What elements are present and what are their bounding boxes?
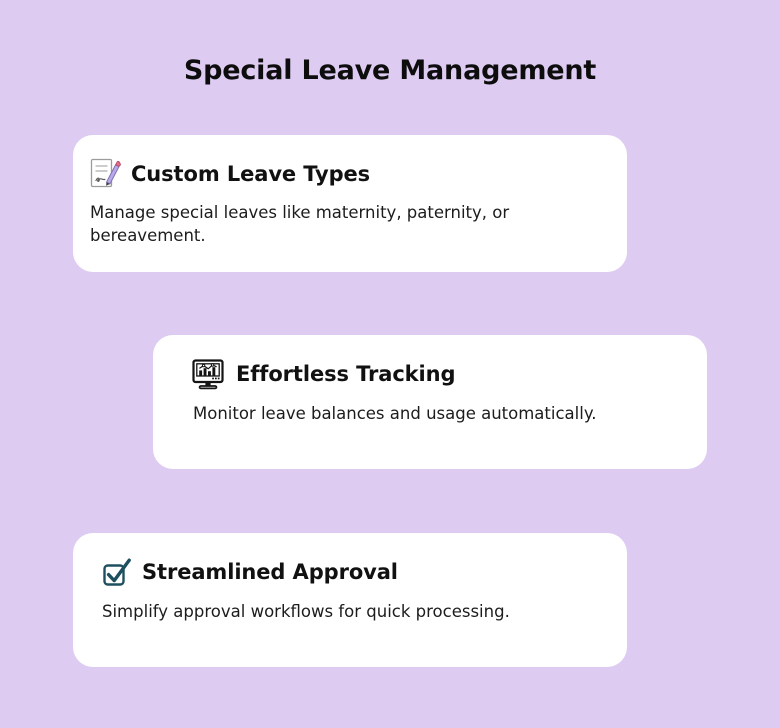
card-body-text: Simplify approval workflows for quick pr… <box>102 601 592 624</box>
card-header: Custom Leave Types <box>88 157 599 191</box>
page-title: Special Leave Management <box>0 55 780 87</box>
card-title: Custom Leave Types <box>131 162 370 186</box>
memo-icon <box>88 157 122 191</box>
slide-root: Special Leave Management Custom Leave Ty… <box>0 0 780 728</box>
card-title: Effortless Tracking <box>236 362 455 386</box>
card-header: Effortless Tracking <box>191 357 679 391</box>
card-header: Streamlined Approval <box>100 555 599 589</box>
analytics-monitor-icon <box>191 357 225 391</box>
card-body-text: Monitor leave balances and usage automat… <box>193 403 679 426</box>
checked-ballot-box-icon <box>100 555 134 589</box>
card-body-text: Manage special leaves like maternity, pa… <box>90 202 580 248</box>
feature-card-streamlined-approval: Streamlined Approval Simplify approval w… <box>73 533 627 667</box>
feature-card-custom-leave-types: Custom Leave Types Manage special leaves… <box>73 135 627 272</box>
card-title: Streamlined Approval <box>142 560 398 584</box>
feature-card-effortless-tracking: Effortless Tracking Monitor leave balanc… <box>153 335 707 469</box>
